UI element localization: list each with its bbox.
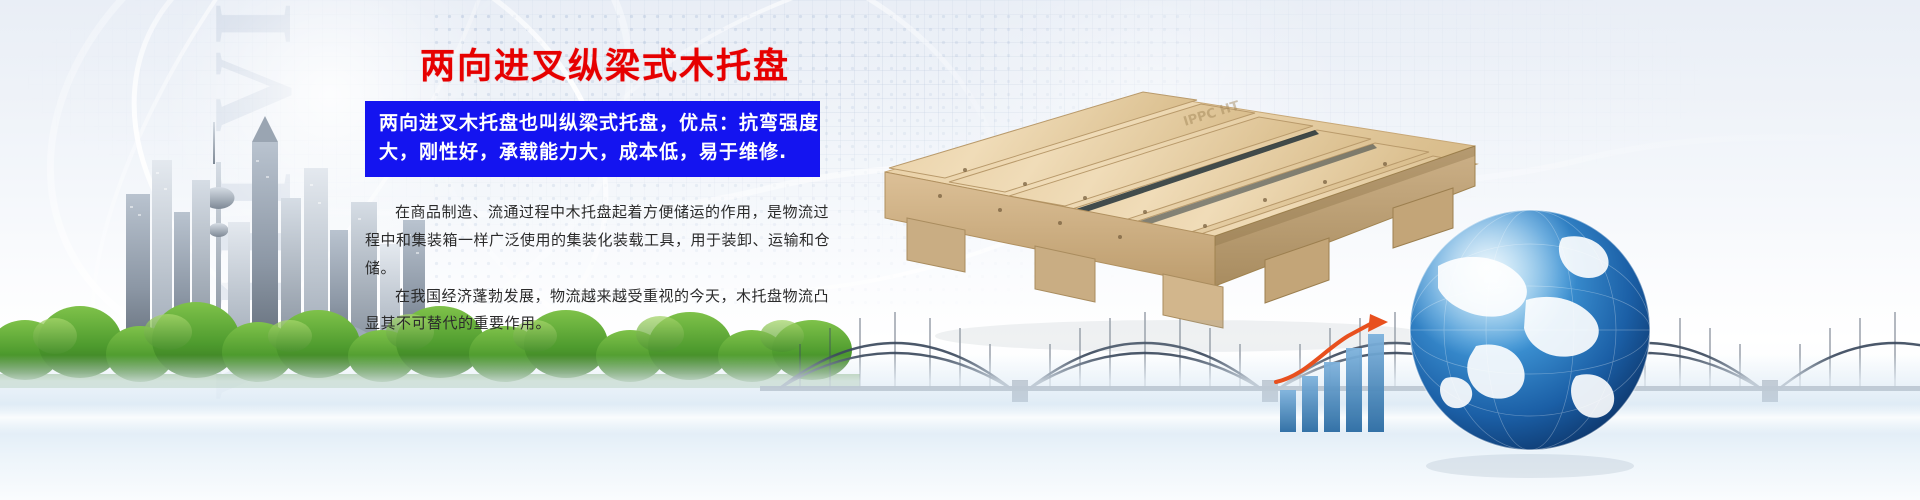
highlight-line-2: 大，刚性好，承载能力大，成本低，易于维修. bbox=[379, 138, 808, 167]
highlight-callout-box: 两向进叉木托盘也叫纵梁式托盘，优点：抗弯强度 大，刚性好，承载能力大，成本低，易… bbox=[365, 101, 820, 178]
banner-headline: 两向进叉纵梁式木托盘 bbox=[365, 48, 845, 87]
product-banner: VIII VII VI V bbox=[0, 0, 1920, 500]
banner-text-column: 两向进叉纵梁式木托盘 两向进叉木托盘也叫纵梁式托盘，优点：抗弯强度 大，刚性好，… bbox=[365, 48, 845, 338]
banner-body-copy: 在商品制造、流通过程中木托盘起着方便储运的作用，是物流过程中和集装箱一样广泛使用… bbox=[365, 199, 835, 338]
blue-earth-globe-image bbox=[1380, 180, 1680, 480]
body-paragraph-2: 在我国经济蓬勃发展，物流越来越受重视的今天，木托盘物流凸显其不可替代的重要作用。 bbox=[365, 283, 835, 339]
body-paragraph-1: 在商品制造、流通过程中木托盘起着方便储运的作用，是物流过程中和集装箱一样广泛使用… bbox=[365, 199, 835, 282]
highlight-line-1: 两向进叉木托盘也叫纵梁式托盘，优点：抗弯强度 bbox=[379, 109, 808, 138]
